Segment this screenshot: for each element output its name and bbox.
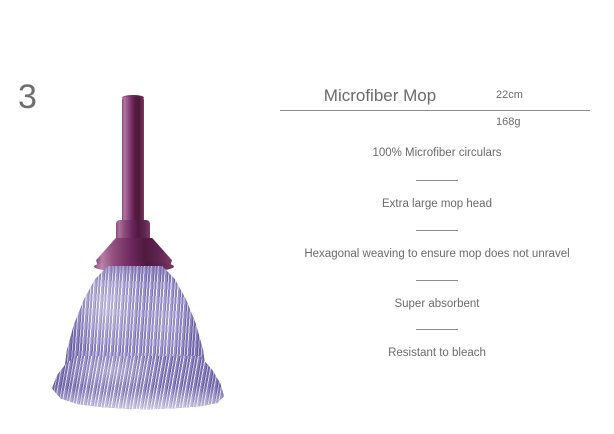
item-index-number: 3: [18, 80, 37, 114]
mop-fringe-strands: [52, 356, 224, 412]
spec-weight: 168g: [496, 117, 520, 128]
mop-handle: [122, 97, 144, 227]
product-title: Microfiber Mop: [280, 86, 480, 106]
feature-item: 100% Microfiber circulars: [280, 146, 594, 162]
spec-measurement: 22cm: [496, 90, 523, 101]
spec-panel: Microfiber Mop 22cm 168g 100% Microfiber…: [280, 86, 594, 362]
product-spec-card: 3 Microfiber Mop 22cm 168g 100% Microfib…: [0, 0, 614, 434]
feature-list: 100% Microfiber circulars Extra large mo…: [280, 146, 594, 362]
product-image-microfiber-mop: [40, 80, 270, 410]
feature-divider: [416, 230, 458, 231]
feature-item: Resistant to bleach: [280, 346, 594, 362]
feature-divider: [416, 329, 458, 330]
spec-header-divider: [280, 110, 590, 111]
feature-divider: [416, 280, 458, 281]
spec-header: Microfiber Mop 22cm 168g: [280, 86, 594, 134]
feature-item: Extra large mop head: [280, 197, 594, 213]
feature-divider: [416, 180, 458, 181]
feature-item: Hexagonal weaving to ensure mop does not…: [280, 247, 594, 263]
feature-item: Super absorbent: [280, 297, 594, 313]
